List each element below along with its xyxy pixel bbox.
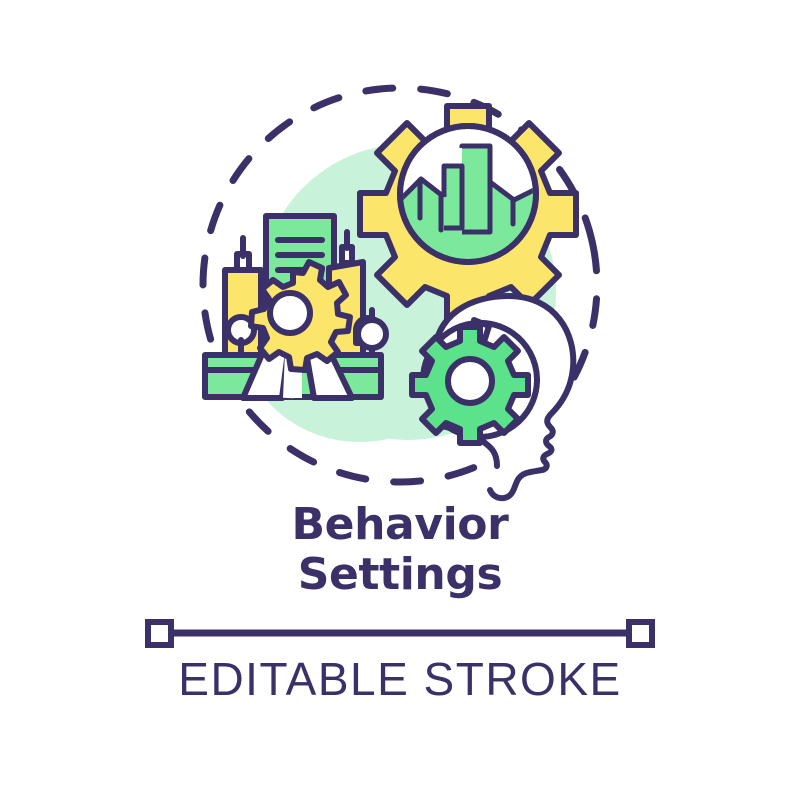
square-handle-right: [629, 622, 652, 645]
editable-stroke-bar: [148, 622, 652, 645]
editable-stroke-label: EDITABLE STROKE: [0, 652, 800, 706]
head-gear-icon: [412, 327, 528, 443]
illustration-canvas: Behavior Settings EDITABLE STROKE: [0, 0, 800, 800]
gear-with-bar-chart-icon: [360, 106, 576, 322]
square-handle-left: [148, 622, 171, 645]
